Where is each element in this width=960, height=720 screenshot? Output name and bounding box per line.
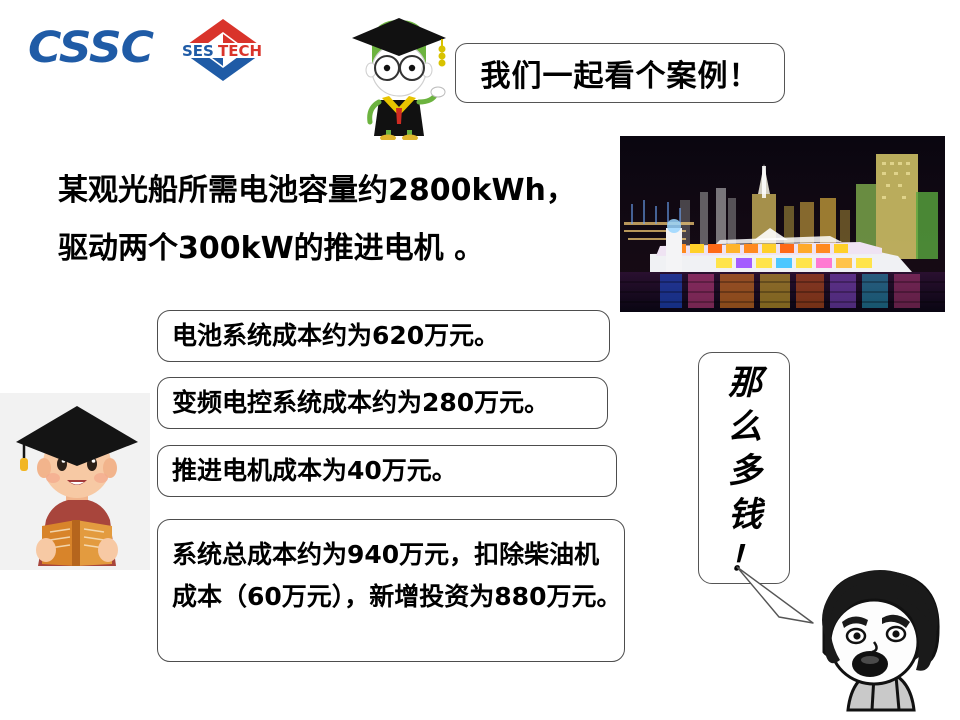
graduate-mascot-icon: [346, 12, 452, 140]
reaction-char: 那: [699, 361, 791, 405]
title-speech-bubble-text: 我们一起看个案例！: [481, 51, 760, 95]
reaction-char: ！: [699, 537, 791, 581]
cost-item-box-motor[interactable]: 推进电机成本为40万元。: [157, 445, 617, 497]
cruise-ship-photo: [620, 136, 945, 312]
title-speech-bubble: 我们一起看个案例！: [455, 43, 785, 103]
sestech-logo-mark: SES TECH: [174, 14, 272, 86]
cost-item-text: 系统总成本约为940万元，扣除柴油机成本（60万元），新增投资为880万元。: [158, 534, 624, 618]
intro-line-1: 某观光船所需电池容量约2800kWh，: [58, 162, 618, 220]
reaction-speech-bubble: 那 么 多 钱 ！: [698, 352, 790, 584]
sestech-logo: SES TECH: [174, 14, 272, 86]
svg-text:TECH: TECH: [218, 42, 262, 60]
cost-item-text: 推进电机成本为40万元。: [158, 455, 457, 486]
cost-item-box-vfd[interactable]: 变频电控系统成本约为280万元。: [157, 377, 608, 429]
slide-canvas: CSSC SES TECH: [0, 0, 960, 720]
reaction-char: 么: [699, 405, 791, 449]
intro-line-2: 驱动两个300kW的推进电机 。: [58, 220, 618, 278]
reaction-char: 钱: [699, 493, 791, 537]
cost-item-box-total[interactable]: 系统总成本约为940万元，扣除柴油机成本（60万元），新增投资为880万元。: [157, 519, 625, 662]
cost-item-text: 电池系统成本约为620万元。: [158, 320, 499, 351]
surprised-face-icon: [800, 560, 960, 720]
student-reading-icon: [6, 398, 146, 568]
reaction-speech-bubble-text: 那 么 多 钱 ！: [699, 361, 791, 581]
intro-paragraph: 某观光船所需电池容量约2800kWh， 驱动两个300kW的推进电机 。: [58, 162, 618, 278]
cost-item-box-battery[interactable]: 电池系统成本约为620万元。: [157, 310, 610, 362]
cost-item-text: 变频电控系统成本约为280万元。: [158, 387, 549, 418]
svg-text:SES: SES: [182, 42, 214, 60]
cssc-logo: CSSC: [28, 24, 158, 72]
reaction-char: 多: [699, 449, 791, 493]
cssc-logo-text: CSSC: [28, 24, 166, 72]
